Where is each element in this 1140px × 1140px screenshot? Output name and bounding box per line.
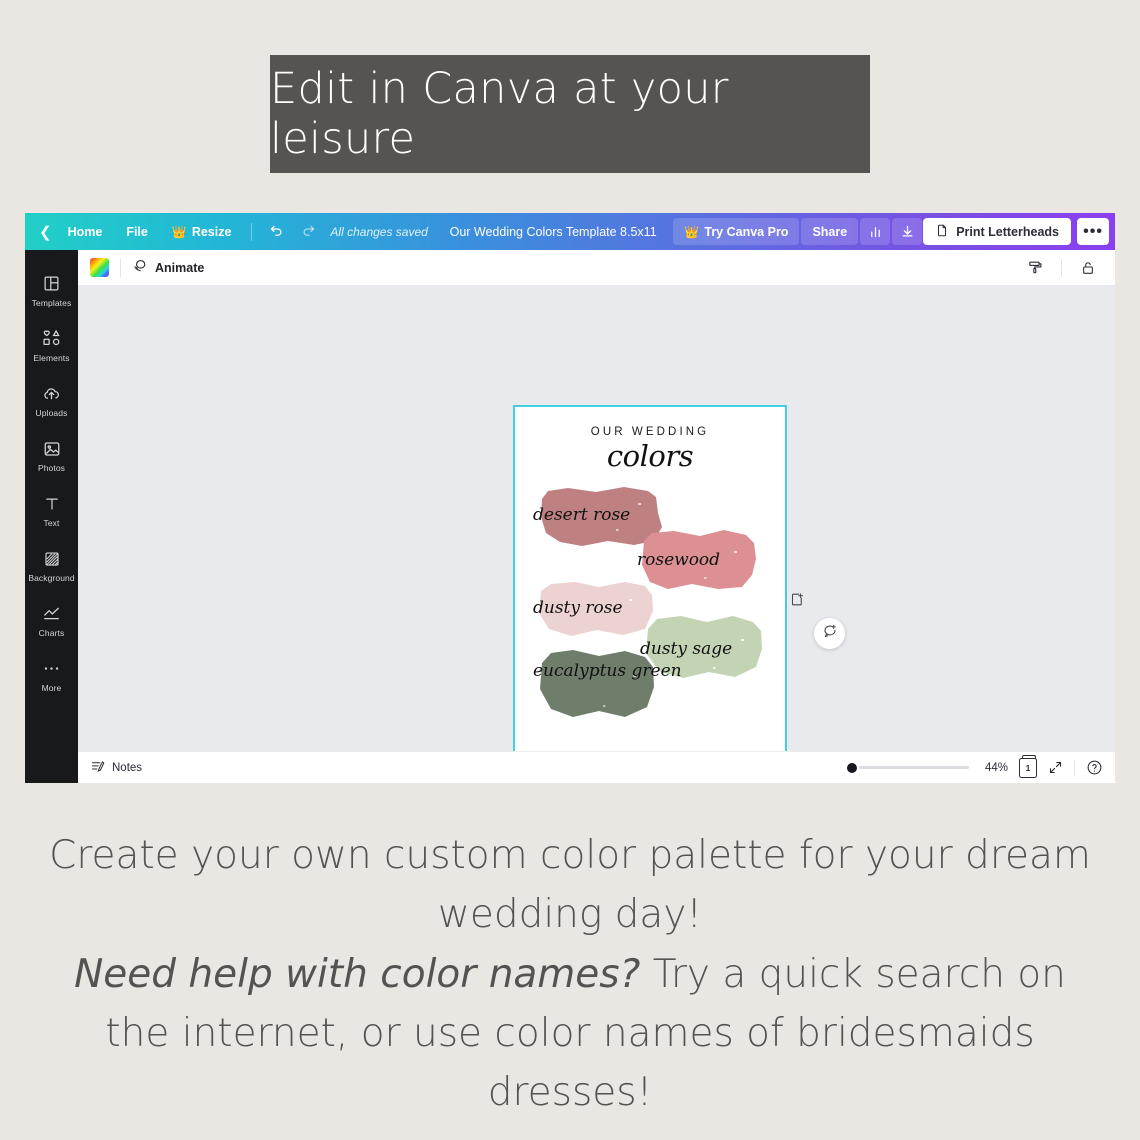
sidebar-item-more[interactable]: More	[25, 648, 78, 703]
print-label: Print Letterheads	[956, 225, 1059, 239]
save-status: All changes saved	[324, 225, 433, 239]
design-toolbar-right	[1020, 254, 1103, 282]
resize-label: Resize	[192, 225, 232, 239]
left-sidebar: Templates Elements Uploads	[25, 250, 78, 783]
add-page-icon[interactable]	[790, 592, 805, 612]
design-subtitle: colors	[515, 439, 785, 473]
crown-icon: 👑	[172, 225, 187, 239]
help-circle-icon[interactable]	[1086, 759, 1103, 776]
zoom-slider[interactable]	[847, 763, 969, 773]
color-swatch-group: desert rose rosewood	[515, 479, 785, 737]
try-pro-label: Try Canva Pro	[704, 225, 788, 239]
upload-cloud-icon	[42, 384, 61, 404]
notes-icon	[90, 759, 105, 777]
status-divider	[1074, 760, 1075, 776]
print-letterheads-button[interactable]: Print Letterheads	[923, 218, 1071, 245]
zoom-slider-track[interactable]	[859, 766, 969, 769]
text-icon	[43, 494, 61, 514]
sidebar-item-elements[interactable]: Elements	[25, 318, 78, 373]
brush-stroke-shape	[537, 647, 657, 725]
design-toolbar: Animate	[78, 250, 1115, 286]
file-menu-button[interactable]: File	[115, 218, 159, 245]
add-comment-button[interactable]	[814, 618, 845, 649]
sidebar-item-background[interactable]: Background	[25, 538, 78, 593]
animate-button[interactable]: Animate	[132, 258, 204, 277]
toolbar-divider	[1061, 259, 1062, 277]
header-banner: Edit in Canva at your leisure	[270, 55, 870, 173]
share-button[interactable]: Share	[801, 218, 858, 245]
try-canva-pro-button[interactable]: 👑 Try Canva Pro	[673, 218, 799, 245]
sidebar-item-uploads[interactable]: Uploads	[25, 373, 78, 428]
download-icon[interactable]	[892, 218, 922, 245]
back-chevron-icon[interactable]: ❮	[25, 223, 56, 241]
banner-text: Edit in Canva at your leisure	[270, 64, 870, 164]
canvas-area[interactable]: OUR WEDDING colors desert rose	[78, 286, 1115, 751]
home-button[interactable]: Home	[57, 218, 114, 245]
caption-block: Create your own custom color palette for…	[40, 826, 1100, 1122]
rainbow-gradient-swatch[interactable]	[90, 258, 109, 277]
animate-icon	[132, 258, 148, 277]
canva-editor-window: ❮ Home File 👑 Resize All changes saved O…	[25, 213, 1115, 783]
zoom-slider-handle[interactable]	[847, 763, 857, 773]
elements-icon	[42, 329, 61, 349]
swatch-label: rosewood	[637, 550, 720, 570]
page-count-button[interactable]: 1	[1019, 758, 1037, 778]
design-title: OUR WEDDING	[515, 426, 785, 438]
swatch-label: desert rose	[533, 505, 630, 525]
undo-icon[interactable]	[261, 218, 291, 245]
status-bar: Notes 44% 1	[78, 751, 1115, 783]
swatch-label: eucalyptus green	[533, 663, 682, 679]
background-icon	[43, 549, 61, 569]
status-bar-right: 44% 1	[847, 758, 1103, 778]
sidebar-label: Photos	[38, 463, 65, 473]
sidebar-label: Text	[44, 518, 60, 528]
bar-chart-icon[interactable]	[860, 218, 890, 245]
zoom-value: 44%	[980, 762, 1008, 774]
swatch-label: dusty rose	[533, 598, 623, 618]
sidebar-item-templates[interactable]: Templates	[25, 263, 78, 318]
sidebar-label: Uploads	[36, 408, 68, 418]
resize-button[interactable]: 👑 Resize	[161, 218, 243, 245]
redo-icon[interactable]	[293, 218, 323, 245]
caption-line-1: Create your own custom color palette for…	[49, 833, 1091, 937]
more-options-button[interactable]: •••	[1077, 218, 1109, 245]
crown-icon: 👑	[684, 225, 699, 239]
sidebar-item-text[interactable]: Text	[25, 483, 78, 538]
top-toolbar: ❮ Home File 👑 Resize All changes saved O…	[25, 213, 1115, 250]
sidebar-item-charts[interactable]: Charts	[25, 593, 78, 648]
add-comment-icon	[822, 623, 838, 644]
document-icon	[935, 223, 949, 241]
editor-column: Animate	[78, 250, 1115, 783]
animate-label: Animate	[155, 261, 204, 275]
document-title[interactable]: Our Wedding Colors Template 8.5x11	[450, 225, 657, 239]
sidebar-label: Templates	[32, 298, 72, 308]
ellipsis-icon	[42, 659, 61, 679]
sidebar-label: Charts	[39, 628, 65, 638]
toolbar-divider	[120, 259, 121, 277]
toolbar-divider	[251, 223, 252, 241]
photo-icon	[43, 439, 61, 459]
notes-button[interactable]: Notes	[90, 759, 142, 777]
sidebar-label: Background	[28, 573, 74, 583]
caption-line-2-emphasis: Need help with color names?	[74, 952, 640, 997]
sidebar-label: Elements	[33, 353, 69, 363]
paint-roller-icon[interactable]	[1020, 254, 1050, 282]
unlock-icon[interactable]	[1073, 254, 1103, 282]
design-page[interactable]: OUR WEDDING colors desert rose	[513, 405, 787, 751]
expand-icon[interactable]	[1048, 760, 1063, 775]
sidebar-label: More	[42, 683, 62, 693]
editor-body: Templates Elements Uploads	[25, 250, 1115, 783]
templates-icon	[43, 274, 60, 294]
notes-label: Notes	[112, 762, 142, 774]
chart-line-icon	[42, 604, 61, 624]
sidebar-item-photos[interactable]: Photos	[25, 428, 78, 483]
